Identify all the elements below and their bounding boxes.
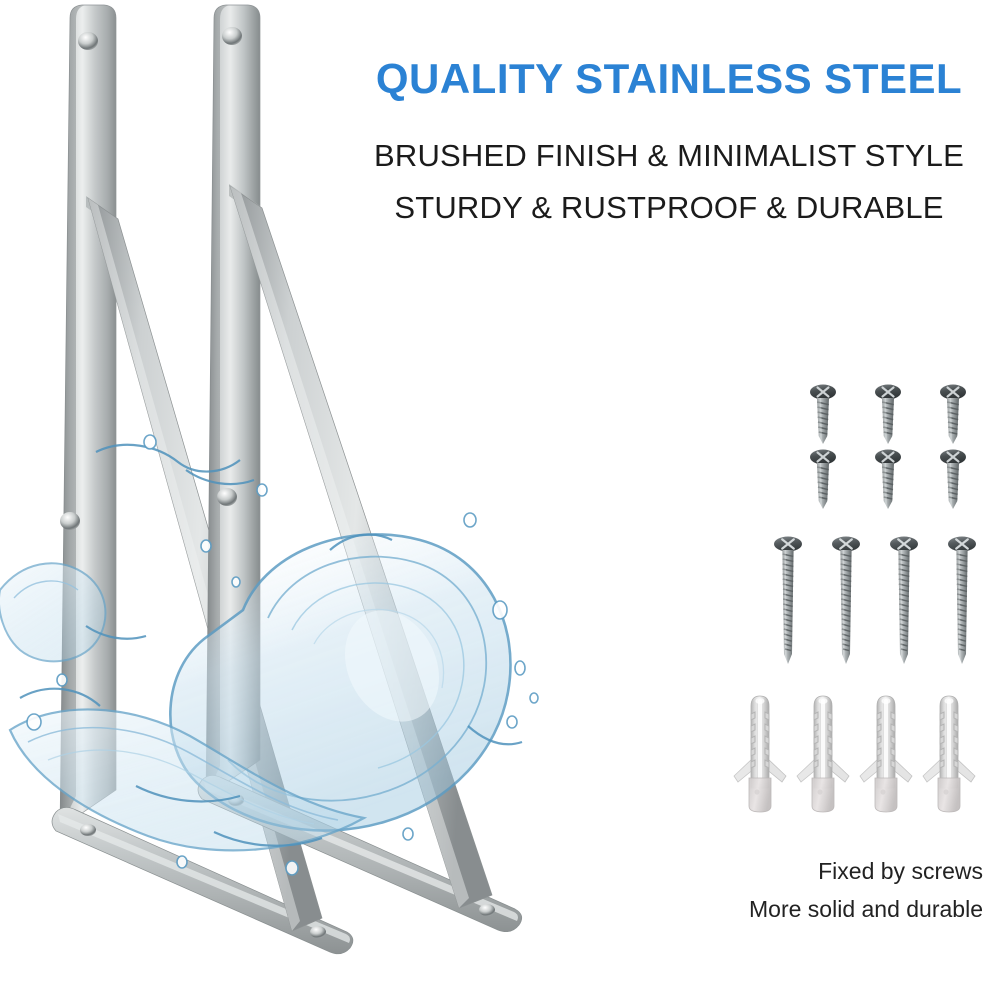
short-screw [875, 450, 901, 510]
subheading-2: STURDY & RUSTPROOF & DURABLE [345, 190, 991, 226]
short-screw [810, 385, 836, 445]
long-screw [832, 537, 860, 665]
product-image-canvas: QUALITY STAINLESS STEEL BRUSHED FINISH &… [0, 0, 991, 1000]
long-screw [890, 537, 918, 665]
wall-anchor [734, 696, 786, 812]
long-screws-group [770, 532, 985, 672]
caption-line-2: More solid and durable [683, 894, 983, 924]
wall-anchor [860, 696, 912, 812]
screw-hole-icon [310, 926, 326, 938]
short-screw [940, 450, 966, 510]
subheading-1: BRUSHED FINISH & MINIMALIST STYLE [345, 138, 991, 174]
wall-anchors-group [730, 688, 980, 833]
short-screw [940, 385, 966, 445]
splash-crown-left [0, 563, 105, 661]
short-screws-group [805, 378, 975, 518]
caption-line-1: Fixed by screws [683, 856, 983, 886]
headline: QUALITY STAINLESS STEEL [345, 55, 991, 103]
screw-hole-icon [78, 32, 98, 50]
long-screw [948, 537, 976, 665]
short-screw [810, 450, 836, 510]
screw-hole-icon [222, 27, 242, 45]
wall-anchor [797, 696, 849, 812]
short-screw [875, 385, 901, 445]
wall-anchor [923, 696, 975, 812]
long-screw [774, 537, 802, 665]
water-splash-overlay [0, 430, 600, 910]
